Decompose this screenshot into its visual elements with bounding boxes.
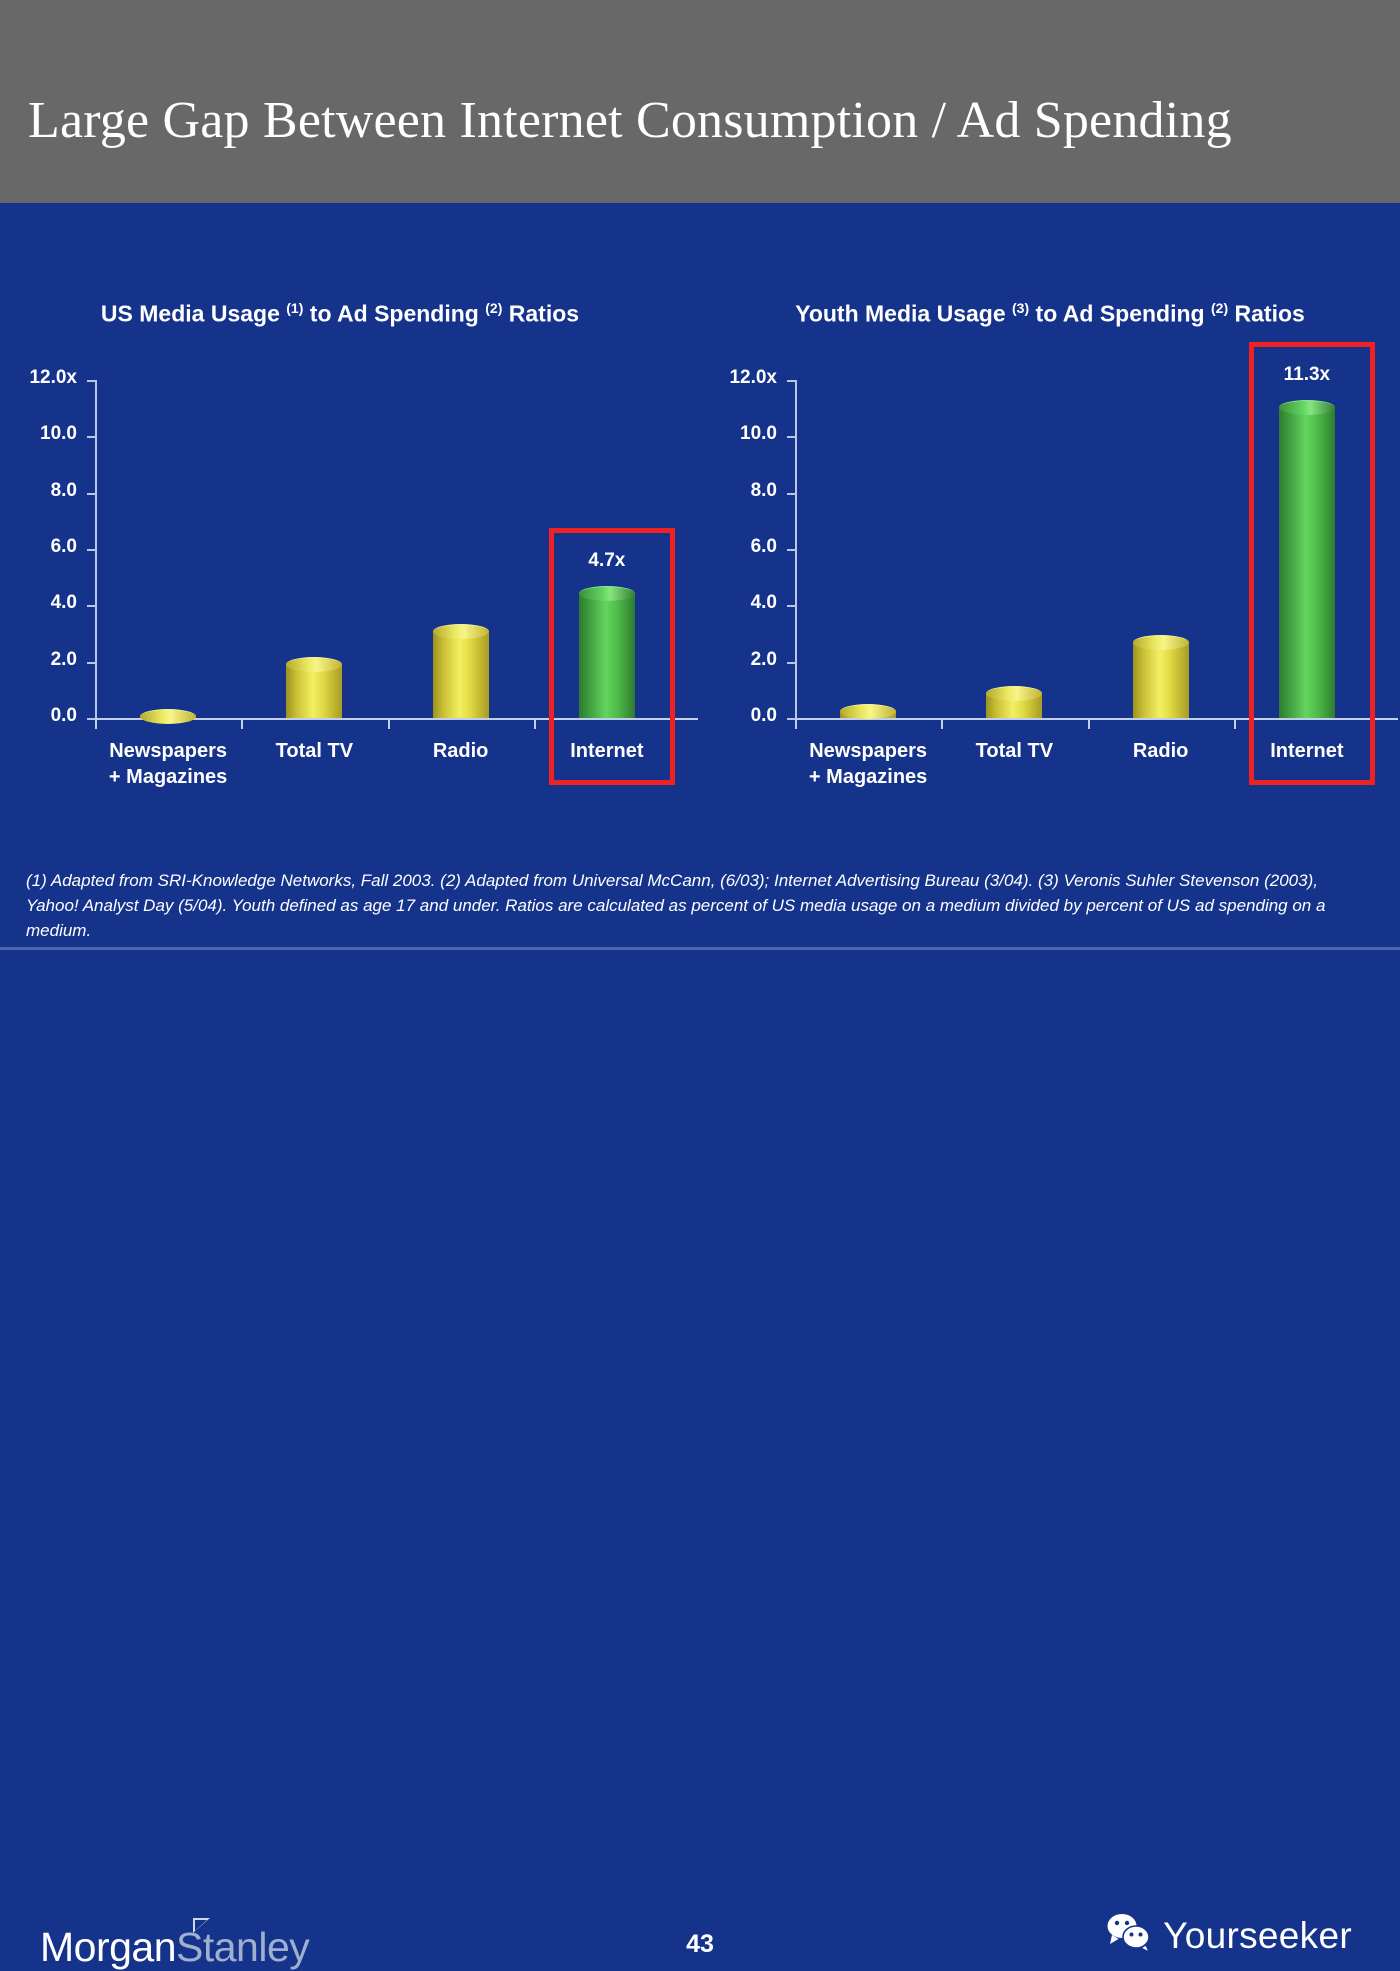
- bar-body: [286, 664, 342, 718]
- bar-youth-2[interactable]: [1133, 635, 1189, 718]
- y-tick-label-us-3: 6.0: [0, 536, 77, 558]
- y-tick-label-youth-0: 0.0: [691, 705, 777, 727]
- bar-body: [433, 631, 489, 718]
- bar-cap: [433, 624, 489, 639]
- y-tick-label-us-4: 8.0: [0, 480, 77, 502]
- x-tick-youth-3: [1234, 720, 1236, 729]
- y-tick-label-youth-2: 4.0: [691, 592, 777, 614]
- x-tick-us-3: [534, 720, 536, 729]
- slide-footer: MorganStanley 43 Yourseeker: [0, 950, 1400, 1042]
- y-tick-us-5: [87, 436, 96, 438]
- brand-block: Yourseeker: [1105, 1912, 1352, 1959]
- bar-cap: [1133, 635, 1189, 650]
- highlight-box-us: [549, 528, 675, 785]
- y-tick-label-us-2: 4.0: [0, 592, 77, 614]
- y-tick-us-1: [87, 662, 96, 664]
- bar-body: [1133, 642, 1189, 718]
- bar-us-1[interactable]: [286, 657, 342, 718]
- y-tick-label-youth-1: 2.0: [691, 649, 777, 671]
- bar-us-0[interactable]: [140, 709, 196, 718]
- y-tick-us-2: [87, 605, 96, 607]
- brand-name: Yourseeker: [1163, 1915, 1352, 1957]
- bar-cap: [840, 704, 896, 719]
- highlight-box-youth: [1249, 342, 1375, 785]
- bar-cap: [140, 709, 196, 724]
- y-tick-label-youth-3: 6.0: [691, 536, 777, 558]
- y-tick-us-6: [87, 380, 96, 382]
- y-tick-label-us-6: 12.0x: [0, 367, 77, 389]
- plot-area-youth: 0.02.04.06.08.010.012.0xNewspapers+ Maga…: [700, 203, 1400, 843]
- x-tick-us-0: [95, 720, 97, 729]
- bar-us-2[interactable]: [433, 624, 489, 718]
- y-tick-youth-1: [787, 662, 796, 664]
- y-tick-youth-6: [787, 380, 796, 382]
- y-tick-youth-2: [787, 605, 796, 607]
- slide-header: Large Gap Between Internet Consumption /…: [0, 0, 1400, 203]
- y-tick-label-us-1: 2.0: [0, 649, 77, 671]
- chart-panel-youth: Youth Media Usage (3) to Ad Spending (2)…: [700, 203, 1400, 843]
- bar-youth-1[interactable]: [986, 686, 1042, 718]
- y-tick-label-us-0: 0.0: [0, 705, 77, 727]
- y-tick-label-us-5: 10.0: [0, 423, 77, 445]
- x-tick-us-1: [241, 720, 243, 729]
- page-title: Large Gap Between Internet Consumption /…: [28, 92, 1232, 150]
- footnote: (1) Adapted from SRI-Knowledge Networks,…: [26, 868, 1374, 943]
- category-label-line: + Magazines: [778, 764, 958, 790]
- y-tick-youth-4: [787, 493, 796, 495]
- bar-youth-0[interactable]: [840, 704, 896, 718]
- category-label-line: + Magazines: [78, 764, 258, 790]
- slide: Large Gap Between Internet Consumption /…: [0, 0, 1400, 1042]
- wechat-icon: [1105, 1912, 1153, 1959]
- x-tick-youth-2: [1088, 720, 1090, 729]
- y-tick-youth-3: [787, 549, 796, 551]
- x-tick-youth-1: [941, 720, 943, 729]
- y-tick-label-youth-4: 8.0: [691, 480, 777, 502]
- x-tick-youth-0: [795, 720, 797, 729]
- y-tick-us-3: [87, 549, 96, 551]
- x-tick-us-2: [388, 720, 390, 729]
- y-tick-label-youth-5: 10.0: [691, 423, 777, 445]
- y-tick-label-youth-6: 12.0x: [691, 367, 777, 389]
- bar-cap: [986, 686, 1042, 701]
- chart-panel-us: US Media Usage (1) to Ad Spending (2) Ra…: [0, 203, 700, 843]
- plot-area-us: 0.02.04.06.08.010.012.0xNewspapers+ Maga…: [0, 203, 700, 843]
- y-tick-youth-5: [787, 436, 796, 438]
- y-tick-us-4: [87, 493, 96, 495]
